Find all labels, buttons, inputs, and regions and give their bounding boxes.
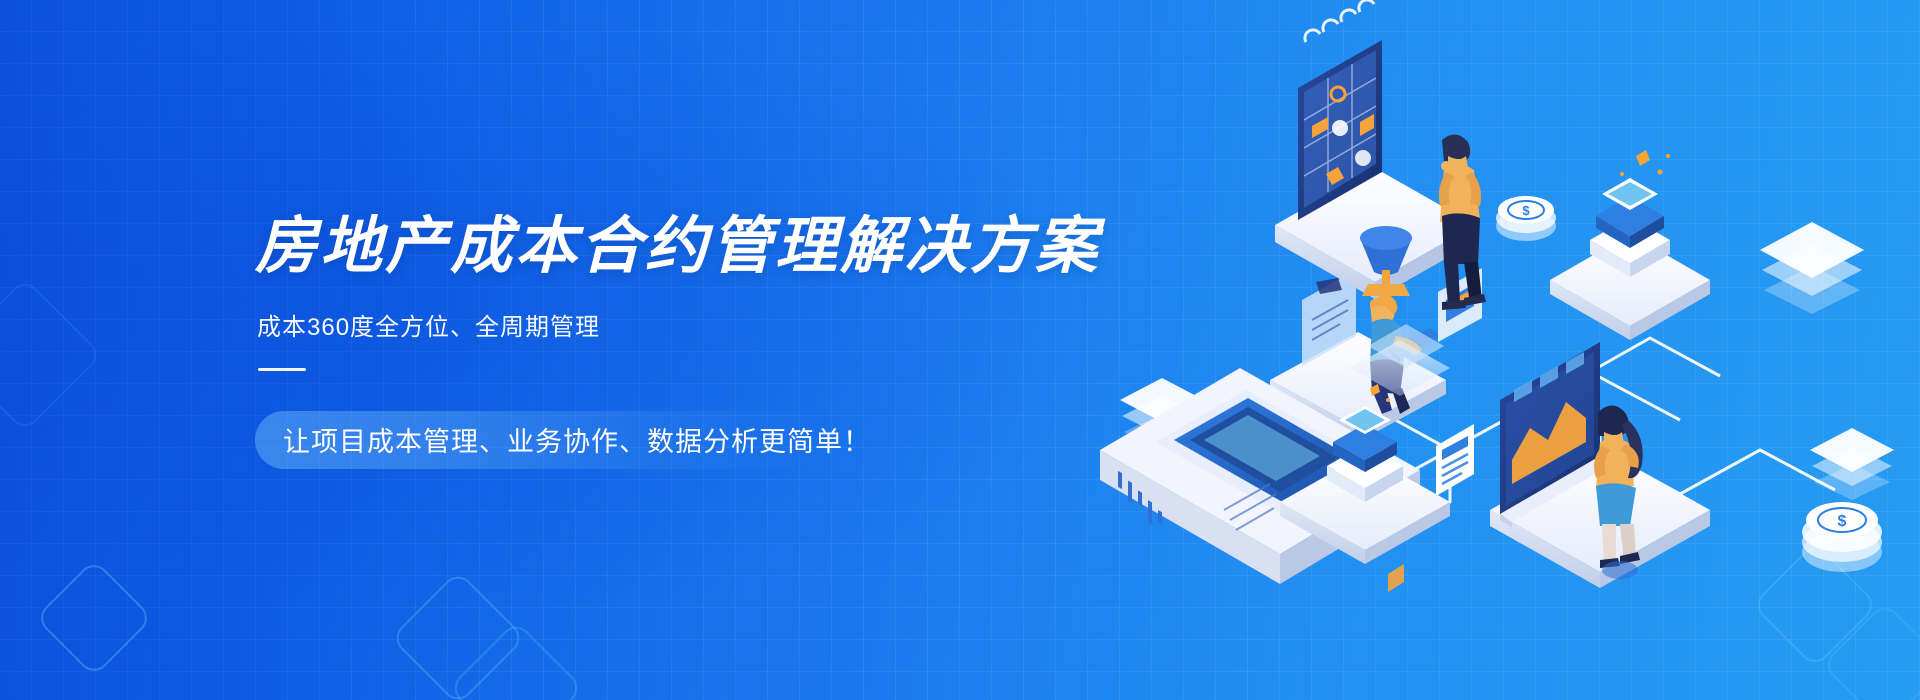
database-cylinder-top <box>1550 150 1710 340</box>
sparkle-particles <box>1620 150 1670 176</box>
small-folder-icon <box>1388 564 1404 592</box>
svg-text:$: $ <box>1838 513 1847 530</box>
title-divider <box>258 368 306 371</box>
stacked-sheets-lower-right <box>1810 428 1894 500</box>
hero-copy: 房地产成本合约管理解决方案 成本360度全方位、全周期管理 让项目成本管理、业务… <box>255 214 1235 469</box>
page-subtitle: 成本360度全方位、全周期管理 <box>257 307 1235 342</box>
stacked-sheets-right <box>1760 222 1864 314</box>
document-list-card <box>1436 424 1474 496</box>
svg-text:$: $ <box>1522 203 1530 218</box>
page-title: 房地产成本合约管理解决方案 <box>255 214 1235 281</box>
hero-illustration: $ <box>1120 150 1910 590</box>
hero-banner: 房地产成本合约管理解决方案 成本360度全方位、全周期管理 让项目成本管理、业务… <box>0 0 1920 700</box>
coin-stack-right: $ <box>1802 502 1882 572</box>
coin-badge-top: $ <box>1496 196 1556 241</box>
tagline-container: 让项目成本管理、业务协作、数据分析更简单！ <box>255 411 955 469</box>
tagline-text: 让项目成本管理、业务协作、数据分析更简单！ <box>255 420 871 459</box>
